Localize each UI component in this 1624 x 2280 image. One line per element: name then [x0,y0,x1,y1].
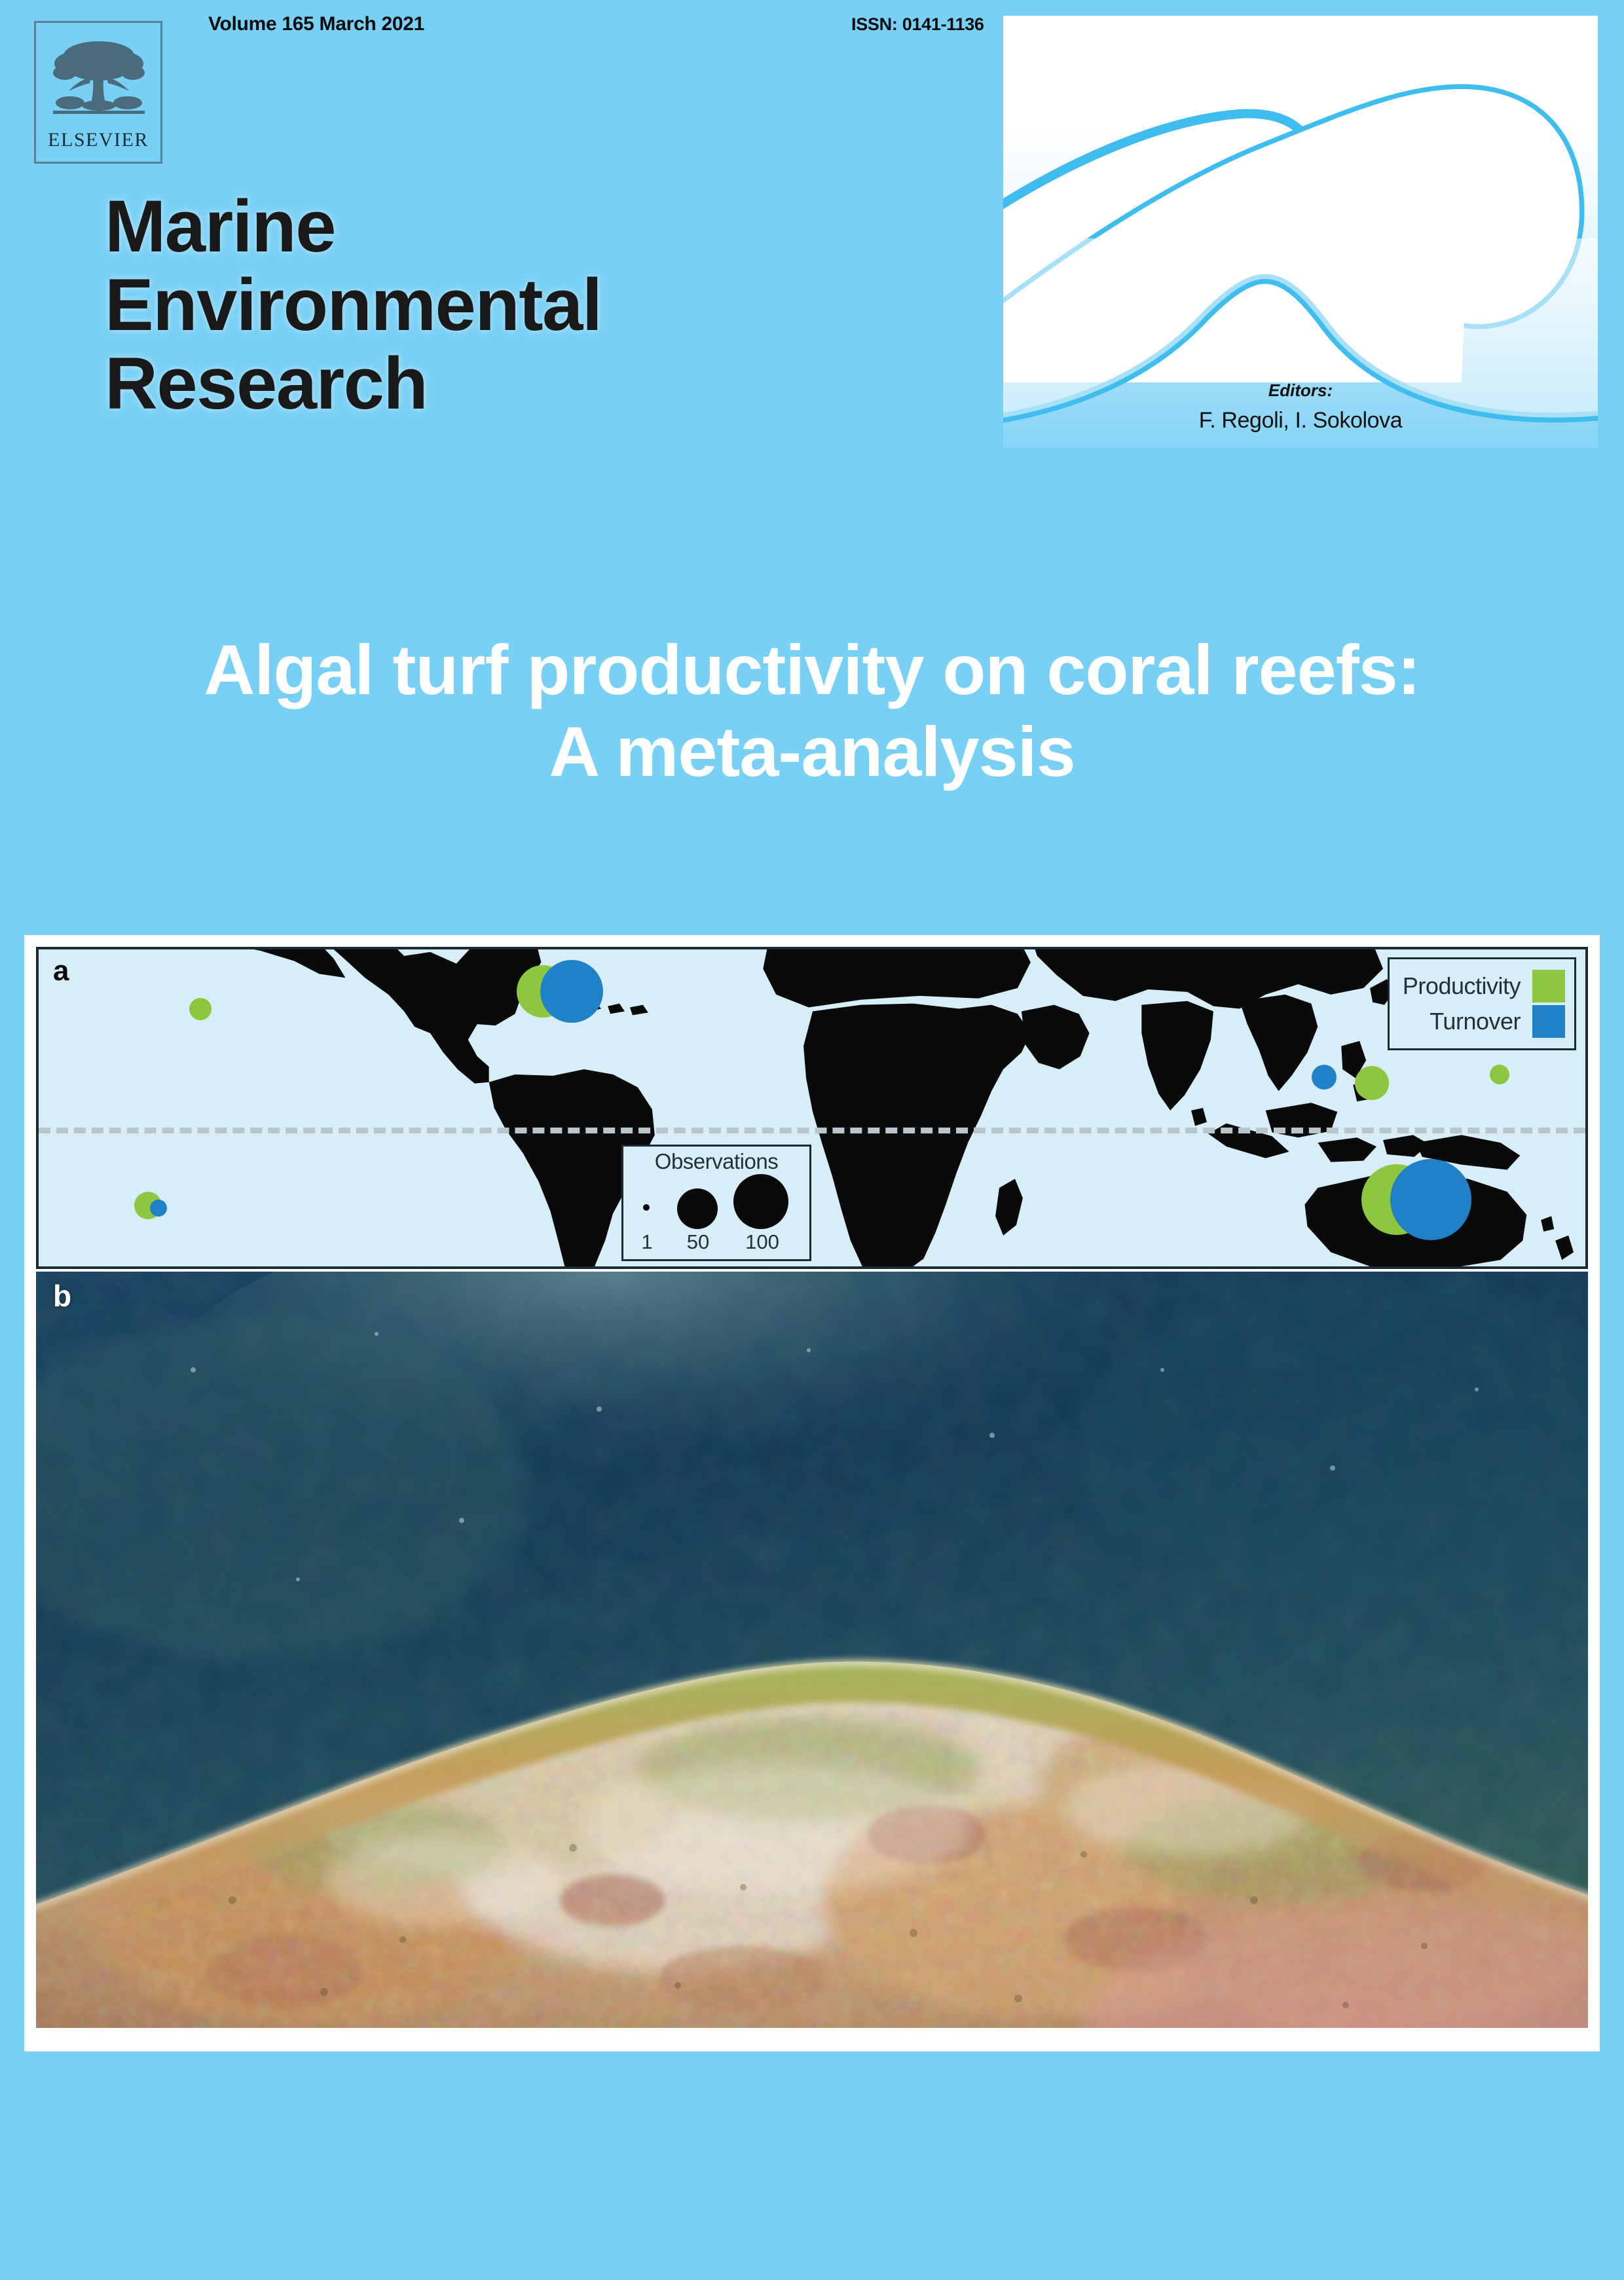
size-legend-title: Observations [623,1149,809,1174]
panel-b-label: b [53,1278,71,1314]
legend-swatch-turnover [1532,1005,1565,1038]
cover-title-line-1: Algal turf productivity on coral reefs: [0,629,1624,710]
bubble-productivity-hawaii [189,998,212,1020]
bubble-productivity-central-pacific [1490,1065,1509,1084]
legend-row-turnover: Turnover [1403,1005,1565,1038]
elsevier-tree-icon [45,33,153,125]
map-category-legend: Productivity Turnover [1388,957,1576,1050]
cover-article-title: Algal turf productivity on coral reefs: … [0,629,1624,793]
legend-label-productivity: Productivity [1403,972,1521,1000]
journal-title: Marine Environmental Research [105,187,969,422]
size-legend-dot-50 [677,1188,718,1229]
figure-panel-b-photo: b [36,1272,1588,2028]
issn-line: ISSN: 0141-1136 [851,14,984,35]
legend-row-productivity: Productivity [1403,970,1565,1002]
figure-panel-a-map: a [36,947,1588,1269]
cover-header: ELSEVIER Volume 165 March 2021 ISSN: 014… [0,0,1624,498]
size-legend-label-100: 100 [745,1230,779,1254]
elsevier-wordmark: ELSEVIER [36,129,160,151]
equator-line [39,1128,1585,1133]
size-legend-label-50: 50 [687,1230,709,1254]
cover-figure: a [24,935,1600,2051]
panel-a-label: a [53,955,69,987]
journal-title-line-2: Environmental [105,266,969,344]
map-size-legend: Observations 1 50 100 [621,1145,811,1261]
volume-line: Volume 165 March 2021 [208,13,424,35]
wave-logo: Editors: F. Regoli, I. Sokolova [1003,16,1598,448]
size-legend-label-1: 1 [641,1230,652,1254]
size-legend-labels: 1 50 100 [623,1230,809,1257]
bubble-turnover-gbr [1390,1159,1471,1240]
journal-title-line-1: Marine [105,187,969,266]
legend-label-turnover: Turnover [1430,1008,1521,1035]
journal-title-line-3: Research [105,344,969,423]
size-legend-dot-1 [643,1204,650,1211]
editors-label: Editors: [1003,380,1598,401]
elsevier-logo: ELSEVIER [34,21,162,164]
bubble-productivity-micronesia [1355,1066,1389,1100]
size-legend-dots [623,1174,809,1230]
algal-turf-reef-photograph [36,1272,1588,2028]
bubble-turnover-polynesia [150,1200,167,1217]
legend-swatch-productivity [1532,970,1565,1002]
editors-names: F. Regoli, I. Sokolova [1003,408,1598,433]
size-legend-dot-100 [733,1174,788,1229]
bubble-turnover-philippines [1312,1065,1337,1090]
world-map-landmass [39,949,1585,1266]
cover-title-line-2: A meta-analysis [0,710,1624,792]
bubble-turnover-caribbean [540,960,603,1023]
